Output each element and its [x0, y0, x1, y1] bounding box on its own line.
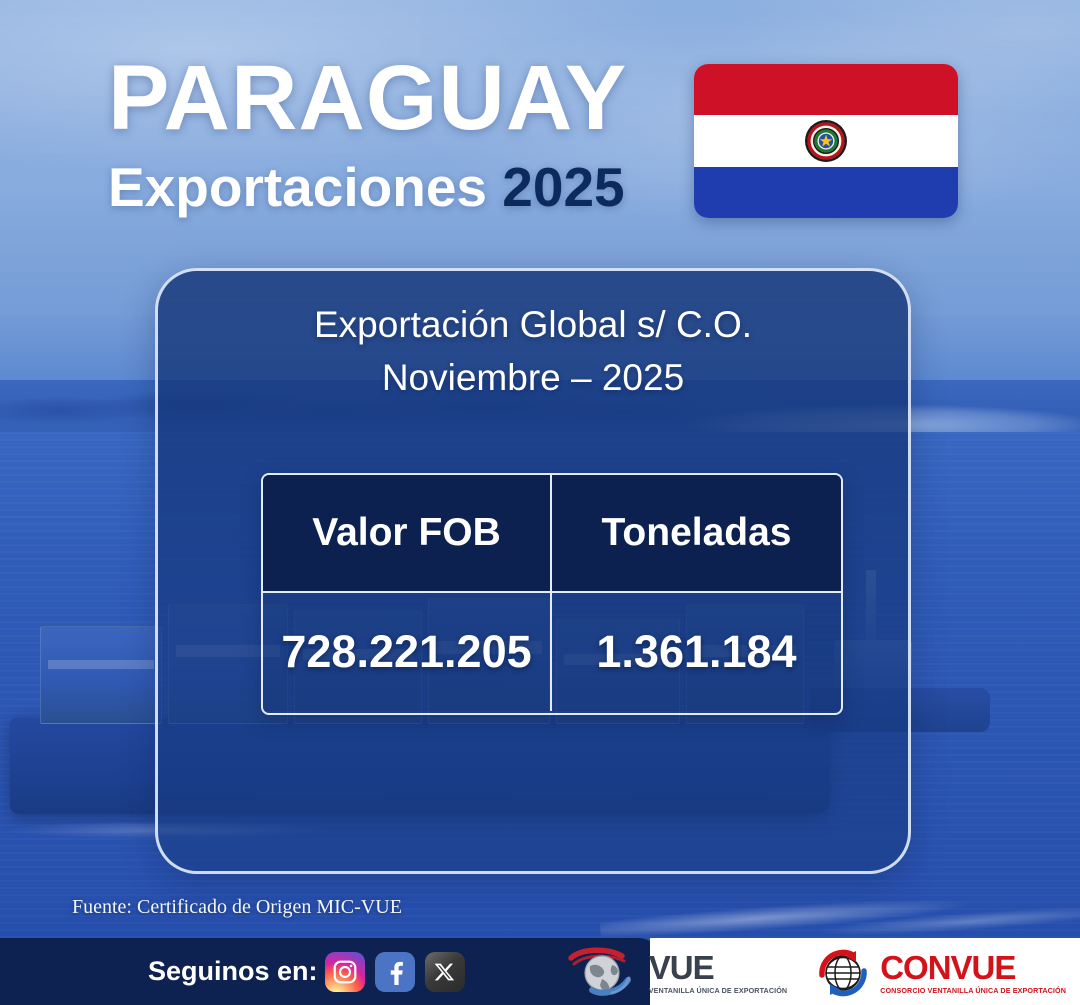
vue-logo-text: VUE VENTANILLA ÚNICA DE EXPORTACIÓN	[649, 951, 787, 994]
card-title-line-2: Noviembre – 2025	[158, 352, 908, 405]
subtitle-year: 2025	[502, 156, 624, 218]
page-title: PARAGUAY	[108, 52, 627, 144]
paraguay-flag-icon	[694, 64, 958, 218]
partner-logos: VUE VENTANILLA ÚNICA DE EXPORTACIÓN	[568, 945, 1066, 1001]
flag-band-red	[694, 64, 958, 115]
source-note: Fuente: Certificado de Origen MIC-VUE	[72, 896, 402, 919]
convue-logo-word: CONVUE	[880, 951, 1066, 984]
table-header-toneladas: Toneladas	[552, 475, 841, 591]
vue-logo-tagline: VENTANILLA ÚNICA DE EXPORTACIÓN	[649, 987, 787, 994]
table-value-toneladas: 1.361.184	[552, 593, 841, 711]
export-infographic-poster: PARAGUAY Exportaciones 2025 Exportación	[0, 0, 1080, 1005]
table-header-row: Valor FOB Toneladas	[263, 475, 841, 591]
convue-globe-icon	[813, 945, 873, 1001]
paraguay-coat-of-arms-icon	[804, 119, 848, 163]
table-value-valor-fob: 728.221.205	[263, 593, 552, 711]
poster-footer: Seguinos en:	[0, 938, 1080, 1005]
export-stats-table: Valor FOB Toneladas 728.221.205 1.361.18…	[261, 473, 843, 715]
follow-us-label: Seguinos en:	[148, 956, 318, 987]
subtitle-word: Exportaciones	[108, 156, 487, 218]
poster-header: PARAGUAY Exportaciones 2025	[0, 0, 1080, 250]
instagram-icon[interactable]	[325, 952, 365, 992]
x-twitter-icon[interactable]	[425, 952, 465, 992]
vue-globe-icon	[568, 946, 642, 1000]
table-row: 728.221.205 1.361.184	[263, 593, 841, 711]
table-header-valor-fob: Valor FOB	[263, 475, 552, 591]
card-title: Exportación Global s/ C.O. Noviembre – 2…	[158, 299, 908, 404]
card-title-line-1: Exportación Global s/ C.O.	[158, 299, 908, 352]
stats-card: Exportación Global s/ C.O. Noviembre – 2…	[155, 268, 911, 874]
facebook-icon[interactable]	[375, 952, 415, 992]
flag-band-blue	[694, 167, 958, 218]
convue-logo-text: CONVUE CONSORCIO VENTANILLA ÚNICA DE EXP…	[880, 951, 1066, 994]
convue-logo-tagline: CONSORCIO VENTANILLA ÚNICA DE EXPORTACIÓ…	[880, 987, 1066, 994]
vue-logo: VUE VENTANILLA ÚNICA DE EXPORTACIÓN	[568, 946, 787, 1000]
social-links	[325, 952, 465, 992]
convue-logo: CONVUE CONSORCIO VENTANILLA ÚNICA DE EXP…	[813, 945, 1066, 1001]
page-subtitle: Exportaciones 2025	[108, 160, 625, 215]
vue-logo-word: VUE	[649, 951, 787, 984]
